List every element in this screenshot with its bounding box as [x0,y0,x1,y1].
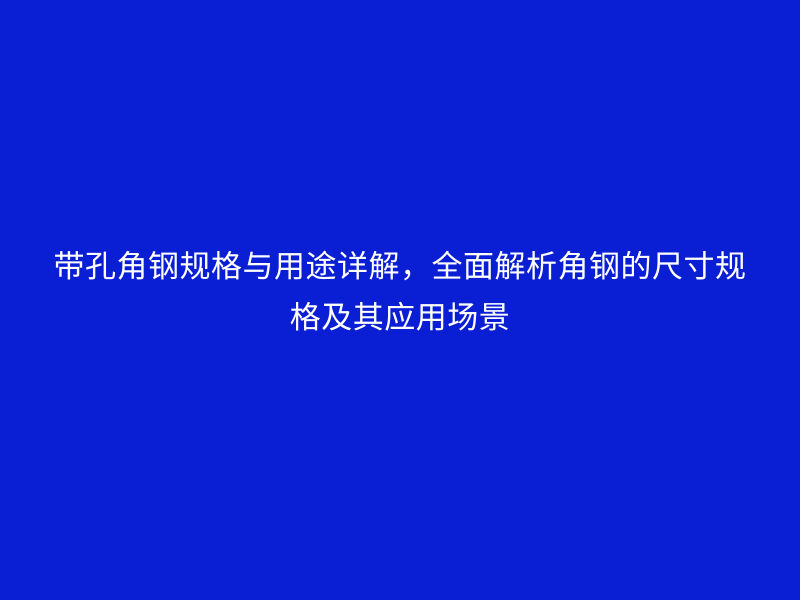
page-title: 带孔角钢规格与用途详解，全面解析角钢的尺寸规格及其应用场景 [50,242,750,344]
slide-canvas: 带孔角钢规格与用途详解，全面解析角钢的尺寸规格及其应用场景 [0,0,800,600]
title-block: 带孔角钢规格与用途详解，全面解析角钢的尺寸规格及其应用场景 [50,0,750,600]
